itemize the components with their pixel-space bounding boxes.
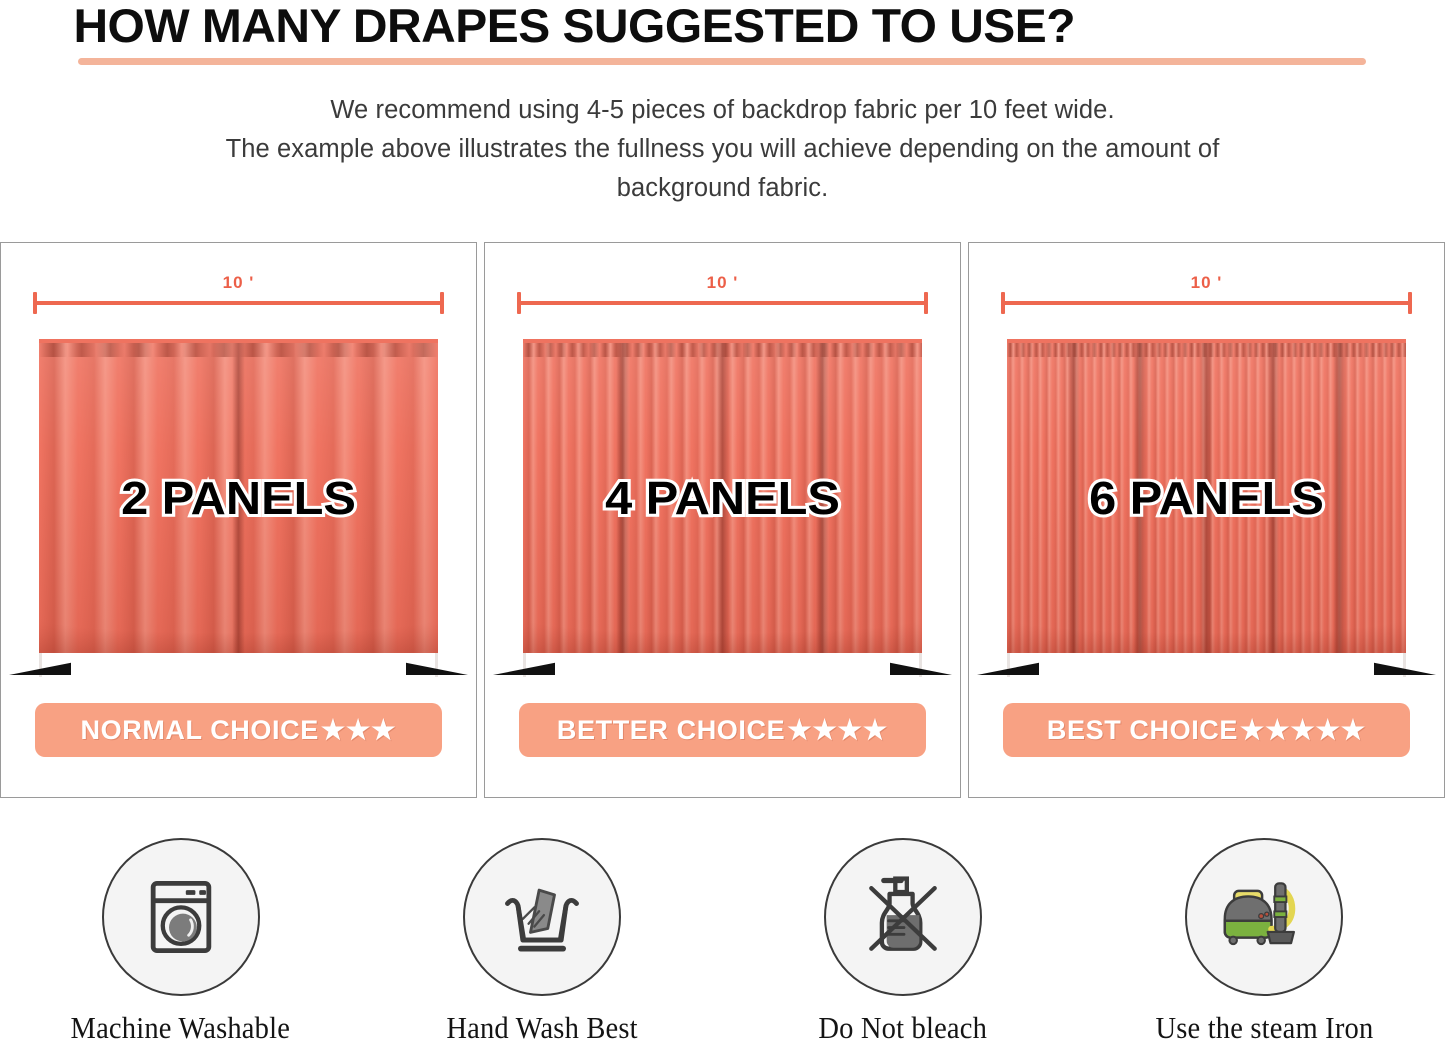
care-instructions-row: Machine Washable Hand Wash Best	[0, 838, 1445, 1046]
choice-badge-stars: ★★★★★	[1240, 717, 1366, 744]
care-item-no-bleach: Do Not bleach	[723, 838, 1084, 1046]
curtain-header-gather	[1007, 341, 1406, 357]
panel-count-label: 6 PANELS	[968, 471, 1445, 525]
choice-badge-text: NORMAL CHOICE	[81, 715, 319, 746]
choice-badge: BETTER CHOICE ★★★★	[519, 703, 926, 757]
panel-card-6[interactable]: 10 ' 6 PANELS BEST CHOICE ★★★★★	[968, 242, 1445, 798]
choice-badge: BEST CHOICE ★★★★★	[1003, 703, 1410, 757]
page-title: HOW MANY DRAPES SUGGESTED TO USE?	[0, 0, 1445, 49]
choice-badge-text: BETTER CHOICE	[557, 715, 785, 746]
care-item-machine-washable: Machine Washable	[0, 838, 361, 1046]
choice-badge-stars: ★★★★	[787, 717, 888, 744]
care-item-steam-iron: Use the steam Iron	[1084, 838, 1445, 1046]
title-underline-rule	[78, 58, 1366, 65]
curtain-header-gather	[523, 341, 922, 357]
panel-card-4[interactable]: 10 ' 4 PANELS BETTER CHOICE ★★★★	[484, 242, 961, 798]
dimension-marker: 10 '	[517, 277, 928, 311]
subtitle-line-3: background fabric.	[95, 169, 1350, 208]
crossbar	[523, 339, 922, 343]
dimension-label: 10 '	[517, 273, 928, 293]
choice-badge-stars: ★★★	[321, 717, 397, 744]
subtitle-line-1: We recommend using 4-5 pieces of backdro…	[95, 91, 1350, 130]
dimension-cap-right	[924, 292, 928, 314]
dimension-bar	[33, 301, 444, 305]
page-subtitle: We recommend using 4-5 pieces of backdro…	[0, 91, 1445, 207]
care-item-hand-wash: Hand Wash Best	[361, 838, 722, 1046]
dimension-marker: 10 '	[33, 277, 444, 311]
choice-badge-text: BEST CHOICE	[1047, 715, 1238, 746]
care-label: Use the steam Iron	[1155, 1010, 1373, 1046]
dimension-label: 10 '	[1001, 273, 1412, 293]
crossbar	[1007, 339, 1406, 343]
choice-badge: NORMAL CHOICE ★★★	[35, 703, 442, 757]
steam-cleaner-icon	[1185, 838, 1343, 996]
header: HOW MANY DRAPES SUGGESTED TO USE? We rec…	[0, 0, 1445, 207]
panel-count-label: 2 PANELS	[0, 471, 477, 525]
care-label: Hand Wash Best	[446, 1010, 637, 1046]
subtitle-line-2: The example above illustrates the fullne…	[95, 130, 1350, 169]
hand-wash-basin-icon	[463, 838, 621, 996]
panel-count-label: 4 PANELS	[484, 471, 961, 525]
dimension-bar	[517, 301, 928, 305]
dimension-cap-right	[1408, 292, 1412, 314]
dimension-marker: 10 '	[1001, 277, 1412, 311]
crossbar	[39, 339, 438, 343]
care-label: Do Not bleach	[819, 1010, 988, 1046]
dimension-cap-right	[440, 292, 444, 314]
care-label: Machine Washable	[71, 1010, 290, 1046]
dimension-label: 10 '	[33, 273, 444, 293]
panel-comparison-row: 10 ' 2 PANELS NORMAL CHOICE ★★★	[0, 242, 1445, 798]
no-bleach-icon	[824, 838, 982, 996]
curtain-header-gather	[39, 341, 438, 357]
dimension-bar	[1001, 301, 1412, 305]
panel-card-2[interactable]: 10 ' 2 PANELS NORMAL CHOICE ★★★	[0, 242, 477, 798]
washing-machine-icon	[102, 838, 260, 996]
